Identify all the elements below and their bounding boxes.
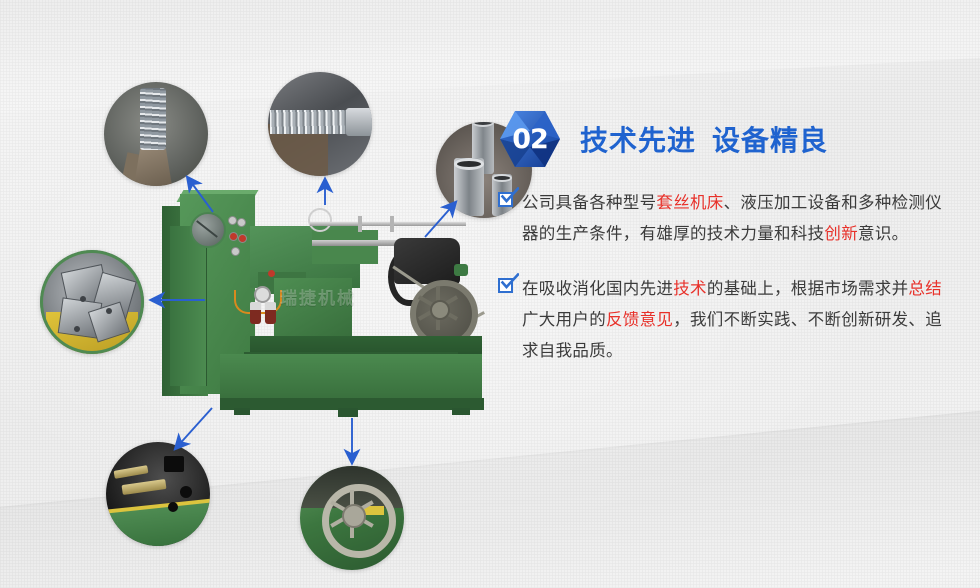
machine-shaft-collar <box>358 216 362 232</box>
feature-panel: 瑞捷机械 <box>0 0 980 588</box>
callout-die-head <box>40 250 144 354</box>
machine-foot <box>234 408 250 415</box>
machine-foot <box>338 408 358 417</box>
machine-cabinet-door <box>170 226 207 386</box>
list-item: 公司具备各种型号套丝机床、液压加工设备和多种检测仪器的生产条件，有雄厚的技术力量… <box>498 188 960 250</box>
machine-lifting-eye <box>308 208 332 232</box>
hexagon-badge-icon: 02 <box>498 107 562 171</box>
machine-fan-grille <box>190 212 226 248</box>
machine-feed-shaft <box>310 222 466 226</box>
list-item: 在吸收消化国内先进技术的基础上，根据市场需求并总结广大用户的反馈意见，我们不断实… <box>498 274 960 367</box>
machine-foot <box>452 408 470 415</box>
title-part-1: 技术先进 <box>580 125 696 156</box>
machine-chip-tray <box>220 354 482 404</box>
product-photo-threading-machine: 瑞捷机械 <box>162 186 492 421</box>
text-content-column: 02 技术先进设备精良 公司具备各种型号套丝机床、液压加工设备和多种检测仪器的生… <box>498 104 960 391</box>
callout-handwheel <box>300 466 404 570</box>
machine-motor-housing <box>394 238 460 284</box>
machine-upper-housing-secondary <box>312 230 378 264</box>
bullet-list: 公司具备各种型号套丝机床、液压加工设备和多种检测仪器的生产条件，有雄厚的技术力量… <box>498 188 960 367</box>
product-watermark: 瑞捷机械 <box>280 284 400 308</box>
checkbox-checked-icon <box>498 277 518 297</box>
callout-motor-gearbox <box>106 442 210 546</box>
machine-handwheel-hub <box>430 300 450 320</box>
machine-emergency-button <box>268 270 275 277</box>
section-header: 02 技术先进设备精良 <box>498 104 960 174</box>
machine-control-knobs <box>228 216 244 256</box>
bullet-text-1: 公司具备各种型号套丝机床、液压加工设备和多种检测仪器的生产条件，有雄厚的技术力量… <box>522 188 947 250</box>
machine-motor-mount <box>454 264 468 276</box>
bullet-text-2: 在吸收消化国内先进技术的基础上，根据市场需求并总结广大用户的反馈意见，我们不断实… <box>522 274 947 367</box>
badge-number: 02 <box>498 107 562 171</box>
title-part-2: 设备精良 <box>712 125 828 156</box>
machine-shaft-collar <box>390 216 394 232</box>
checkbox-checked-icon <box>498 191 518 211</box>
page-title: 技术先进设备精良 <box>580 119 828 159</box>
callout-threaded-rod <box>104 82 208 186</box>
callout-threaded-bar <box>268 72 372 176</box>
machine-lubricator-unit <box>250 294 284 324</box>
